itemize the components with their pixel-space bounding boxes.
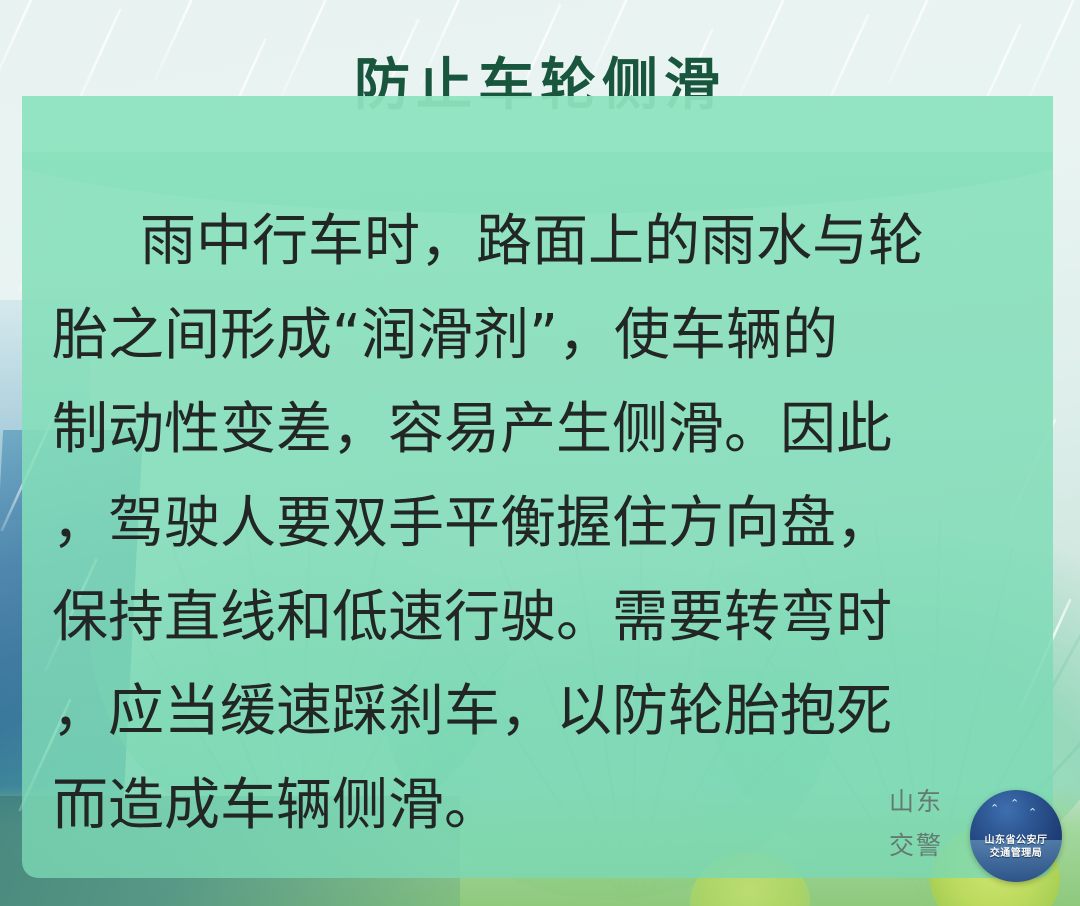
seagull-icon-3: ⌃ xyxy=(1028,808,1037,819)
body-line-1: 雨中行车时，路面上的雨水与轮 xyxy=(52,195,1042,289)
body-line-6: ，应当缓速踩刹车，以防轮胎抱死 xyxy=(52,665,1042,759)
body-line-2: 胎之间形成“润滑剂”，使车辆的 xyxy=(52,289,1042,383)
badge-line-2: 交通管理局 xyxy=(970,847,1062,860)
body-text-block: 雨中行车时，路面上的雨水与轮 胎之间形成“润滑剂”，使车辆的 制动性变差，容易产… xyxy=(52,195,1042,853)
body-line-3: 制动性变差，容易产生侧滑。因此 xyxy=(52,383,1042,477)
seagull-icon-1: ⌃ xyxy=(990,804,999,815)
seagull-icon-2: ⌃ xyxy=(1010,799,1019,810)
body-line-5: 保持直线和低速行驶。需要转弯时 xyxy=(52,571,1042,665)
badge-line-1: 山东省公安厅 xyxy=(970,834,1062,847)
watermark-line-1: 山东 xyxy=(880,780,952,824)
watermark-line-2: 交警 xyxy=(880,824,952,868)
body-line-4: ，驾驶人要双手平衡握住方向盘， xyxy=(52,477,1042,571)
badge-text: 山东省公安厅 交通管理局 xyxy=(970,834,1062,860)
poster-canvas: 防止车轮侧滑 雨中行车时，路面上的雨水与轮 胎之间形成“润滑剂”，使车辆的 制动… xyxy=(0,0,1080,906)
agency-badge-logo: ⌃ ⌃ ⌃ 山东省公安厅 交通管理局 xyxy=(970,790,1062,882)
watermark-text: 山东 交警 xyxy=(880,780,952,868)
